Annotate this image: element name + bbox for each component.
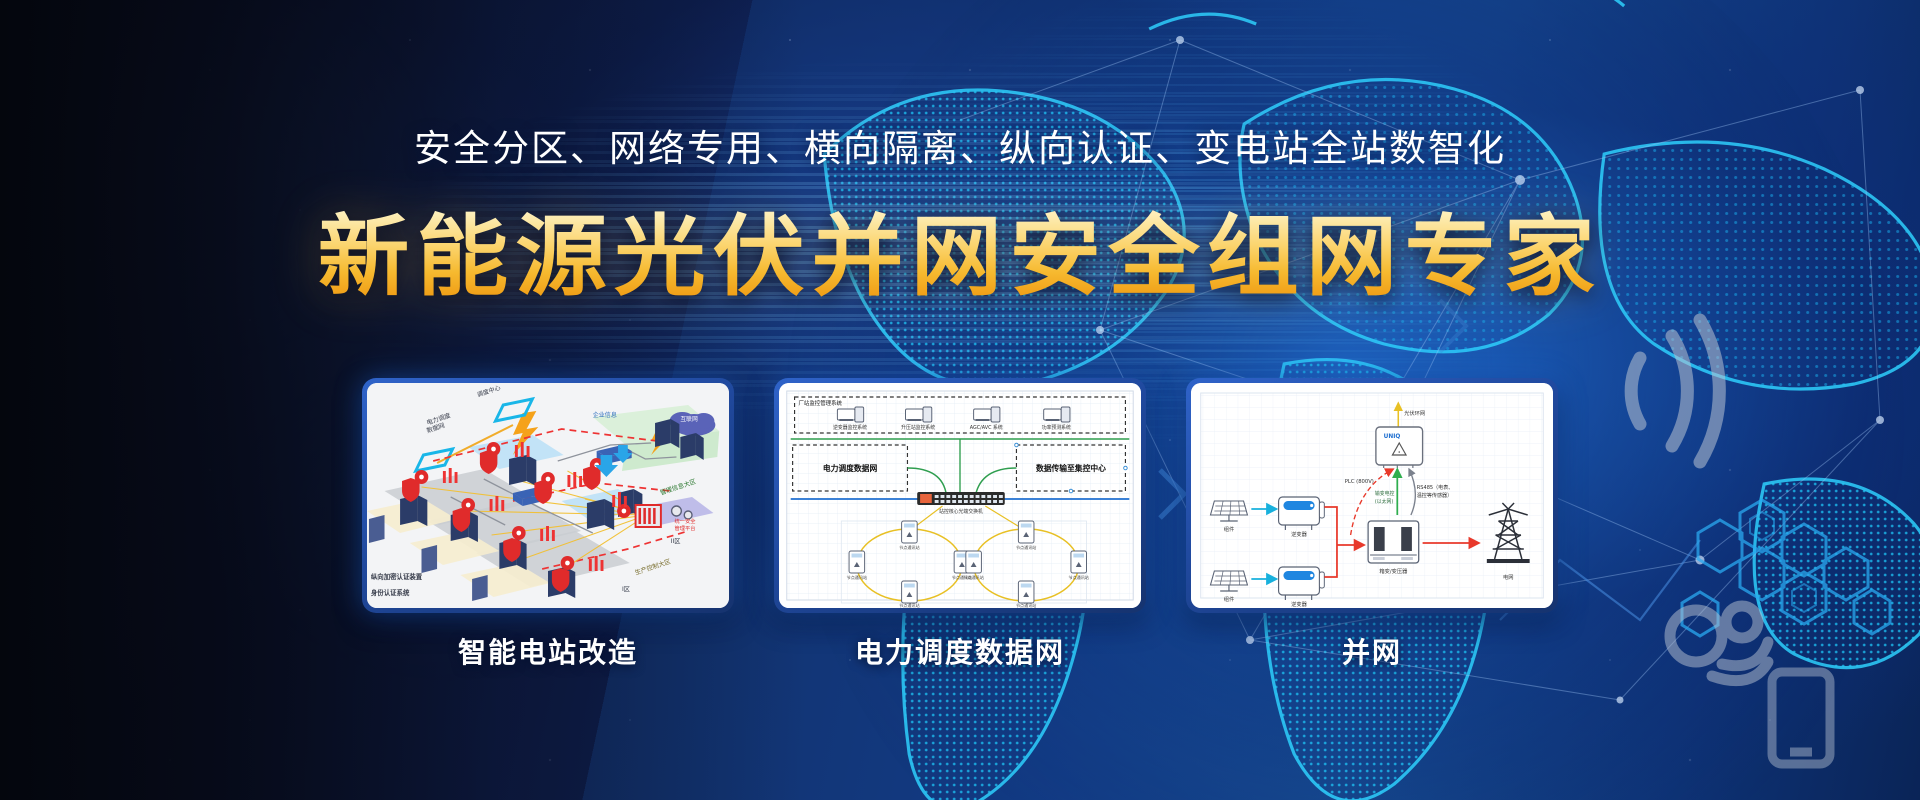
svg-text:UNIQ: UNIQ xyxy=(1384,434,1401,440)
svg-text:(以太网): (以太网) xyxy=(1375,498,1393,505)
svg-text:节点通讯站: 节点通讯站 xyxy=(899,544,919,550)
card-frame: 电力调度 数据网 调度中心 企业信息 互联网 管理信息大区 生产控制大区 II区… xyxy=(362,378,734,613)
svg-text:逆变器: 逆变器 xyxy=(1291,530,1307,538)
card-screenshot-grid-connection: 光伏环网 UNIQ xyxy=(1191,383,1553,608)
svg-text:身份认证系统: 身份认证系统 xyxy=(371,588,410,597)
banner-content: 安全分区、网络专用、横向隔离、纵向认证、变电站全站数智化 新能源光伏并网安全组网… xyxy=(0,0,1920,800)
svg-text:升压站监控系统: 升压站监控系统 xyxy=(901,424,935,431)
svg-text:逆变器监控系统: 逆变器监控系统 xyxy=(833,424,867,431)
banner-subtitle: 安全分区、网络专用、横向隔离、纵向认证、变电站全站数智化 xyxy=(0,118,1920,172)
svg-text:II区: II区 xyxy=(671,537,681,545)
svg-text:节点通讯站: 节点通讯站 xyxy=(1016,602,1036,608)
svg-text:功率预测系统: 功率预测系统 xyxy=(1042,424,1071,431)
card-frame: 光伏环网 UNIQ xyxy=(1186,378,1558,613)
svg-text:节点通讯站: 节点通讯站 xyxy=(1069,574,1089,580)
svg-text:RS485（电表、: RS485（电表、 xyxy=(1417,483,1454,491)
showcase-card[interactable]: 厂站监控管理系统 xyxy=(774,378,1146,671)
svg-text:站控核心光端交换机: 站控核心光端交换机 xyxy=(939,508,983,515)
svg-text:厂站监控管理系统: 厂站监控管理系统 xyxy=(798,399,842,407)
banner-title: 新能源光伏并网安全组网专家 xyxy=(0,186,1920,313)
card-frame: 厂站监控管理系统 xyxy=(774,378,1146,613)
svg-text:组件: 组件 xyxy=(1224,595,1235,603)
svg-text:I区: I区 xyxy=(622,585,630,593)
svg-text:节点通讯站: 节点通讯站 xyxy=(1016,544,1036,550)
svg-text:节点通讯站: 节点通讯站 xyxy=(963,574,983,580)
svg-text:温控等传感器）: 温控等传感器） xyxy=(1417,491,1452,499)
card-screenshot-smart-substation: 电力调度 数据网 调度中心 企业信息 互联网 管理信息大区 生产控制大区 II区… xyxy=(367,383,729,608)
svg-text:箱变/变压器: 箱变/变压器 xyxy=(1379,567,1408,575)
svg-text:光伏环网: 光伏环网 xyxy=(1404,409,1425,417)
svg-text:电网: 电网 xyxy=(1503,573,1513,581)
card-caption: 并网 xyxy=(1186,631,1558,671)
svg-text:数据传输至集控中心: 数据传输至集控中心 xyxy=(1036,463,1106,473)
svg-text:逆变器: 逆变器 xyxy=(1291,600,1307,608)
card-caption: 电力调度数据网 xyxy=(774,631,1146,671)
svg-text:电力调度数据网: 电力调度数据网 xyxy=(823,463,877,473)
svg-text:统一安全: 统一安全 xyxy=(675,517,697,525)
svg-text:纵向加密认证装置: 纵向加密认证装置 xyxy=(371,572,423,581)
card-caption: 智能电站改造 xyxy=(362,631,734,671)
svg-text:节点通讯站: 节点通讯站 xyxy=(847,574,867,580)
svg-text:输变电控: 输变电控 xyxy=(1375,490,1394,497)
card-screenshot-dispatch-network: 厂站监控管理系统 xyxy=(779,383,1141,608)
showcase-card[interactable]: 电力调度 数据网 调度中心 企业信息 互联网 管理信息大区 生产控制大区 II区… xyxy=(362,378,734,671)
showcase-card-list: 电力调度 数据网 调度中心 企业信息 互联网 管理信息大区 生产控制大区 II区… xyxy=(0,378,1920,671)
showcase-card[interactable]: 光伏环网 UNIQ xyxy=(1186,378,1558,671)
svg-text:节点通讯站: 节点通讯站 xyxy=(899,602,919,608)
svg-text:互联网: 互联网 xyxy=(680,415,698,423)
svg-text:组件: 组件 xyxy=(1224,525,1235,533)
svg-text:管理平台: 管理平台 xyxy=(675,524,696,532)
svg-text:企业信息: 企业信息 xyxy=(593,411,617,419)
svg-text:PLC (800V): PLC (800V) xyxy=(1345,479,1374,485)
svg-text:AGC/AVC 系统: AGC/AVC 系统 xyxy=(970,424,1003,431)
